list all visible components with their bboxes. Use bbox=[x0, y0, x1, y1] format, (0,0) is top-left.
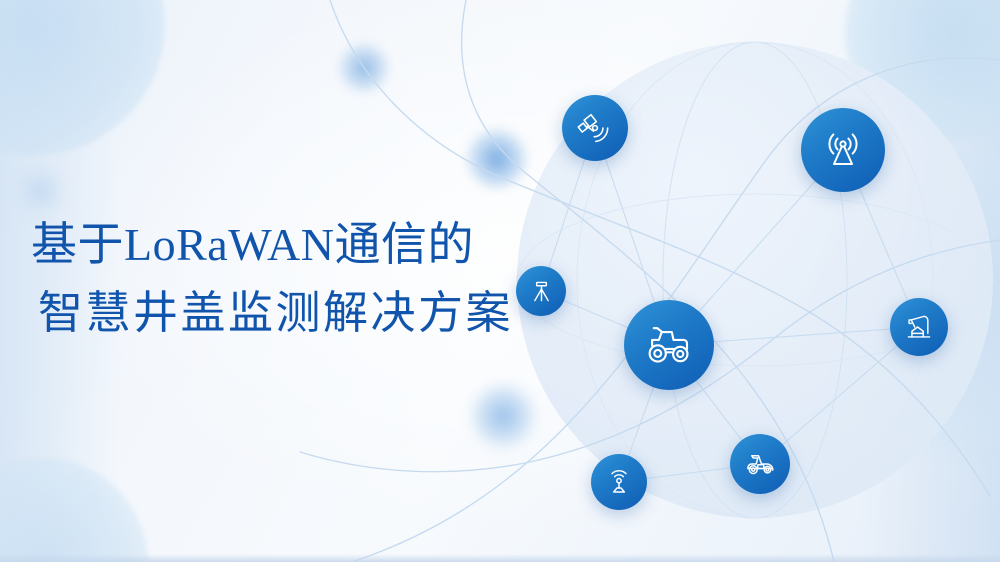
presentation-slide: 基于LoRaWAN通信的 智慧井盖监测解决方案 bbox=[0, 0, 1000, 562]
node-radio-tower[interactable] bbox=[801, 108, 885, 192]
node-tractor[interactable] bbox=[624, 300, 714, 390]
slide-title: 基于LoRaWAN通信的 智慧井盖监测解决方案 bbox=[0, 222, 560, 335]
lawn-mower-icon bbox=[742, 446, 778, 482]
node-lawn-mower[interactable] bbox=[730, 434, 790, 494]
node-oil-pumpjack[interactable] bbox=[890, 298, 948, 356]
wireless-sensor-icon bbox=[603, 466, 635, 498]
title-line-2: 智慧井盖监测解决方案 bbox=[0, 290, 560, 335]
tractor-icon bbox=[642, 318, 696, 372]
node-satellite[interactable] bbox=[562, 95, 628, 161]
radio-tower-icon bbox=[819, 126, 867, 174]
bottom-edge-line bbox=[0, 554, 1000, 562]
title-line-1: 基于LoRaWAN通信的 bbox=[0, 222, 560, 268]
satellite-icon bbox=[576, 109, 614, 147]
node-wireless-sensor[interactable] bbox=[591, 454, 647, 510]
oil-pumpjack-icon bbox=[902, 310, 936, 344]
